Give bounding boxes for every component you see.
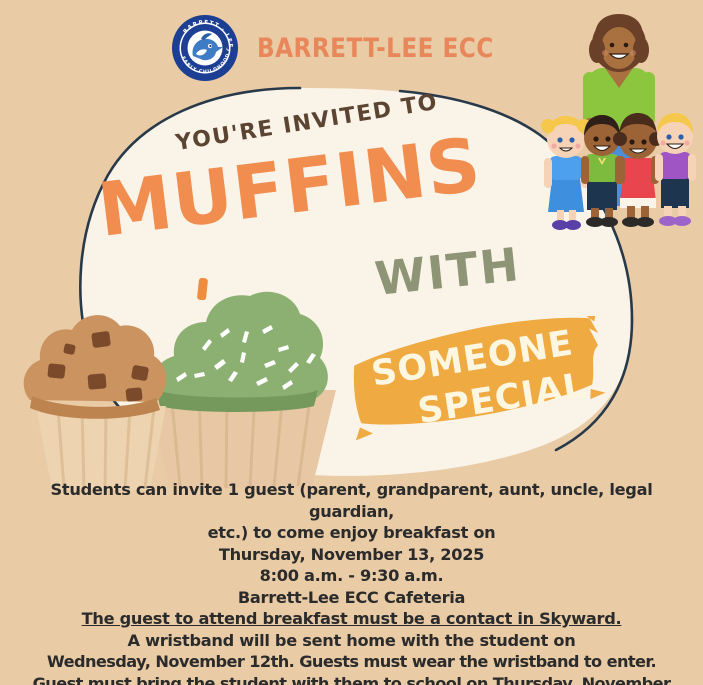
flyer-canvas: BARRETT · LEE EARLY CHILDHOOD CENTER BAR… <box>0 0 703 685</box>
headline-muffins: MUFFINS <box>94 122 486 254</box>
green-frosted-cupcake <box>146 292 336 488</box>
body-line: Barrett-Lee ECC Cafeteria <box>0 587 703 609</box>
school-logo: BARRETT · LEE EARLY CHILDHOOD CENTER <box>171 14 239 82</box>
child-boy-green-shirt <box>581 115 623 227</box>
body-line: Wednesday, November 12th. Guests must we… <box>0 651 703 673</box>
brand-title: BARRETT-LEE ECC <box>257 33 494 64</box>
body-copy: Students can invite 1 guest (parent, gra… <box>0 479 703 685</box>
body-line: 8:00 a.m. - 9:30 a.m. <box>0 565 703 587</box>
body-line: Guest must bring the student with them t… <box>0 673 703 685</box>
flyer-header: BARRETT · LEE EARLY CHILDHOOD CENTER BAR… <box>0 8 703 88</box>
body-line-skyward-notice: The guest to attend breakfast must be a … <box>0 608 703 630</box>
body-line: A wristband will be sent home with the s… <box>0 630 703 652</box>
body-line: Students can invite 1 guest (parent, gra… <box>0 479 703 522</box>
body-line: etc.) to come enjoy breakfast on <box>0 522 703 544</box>
muffins-illustration <box>6 278 346 493</box>
headline-with: WITH <box>372 237 523 306</box>
chocolate-chip-muffin <box>24 315 167 490</box>
child-blonde-boy <box>655 113 696 226</box>
someone-special-banner <box>352 316 610 444</box>
body-line: Thursday, November 13, 2025 <box>0 544 703 566</box>
